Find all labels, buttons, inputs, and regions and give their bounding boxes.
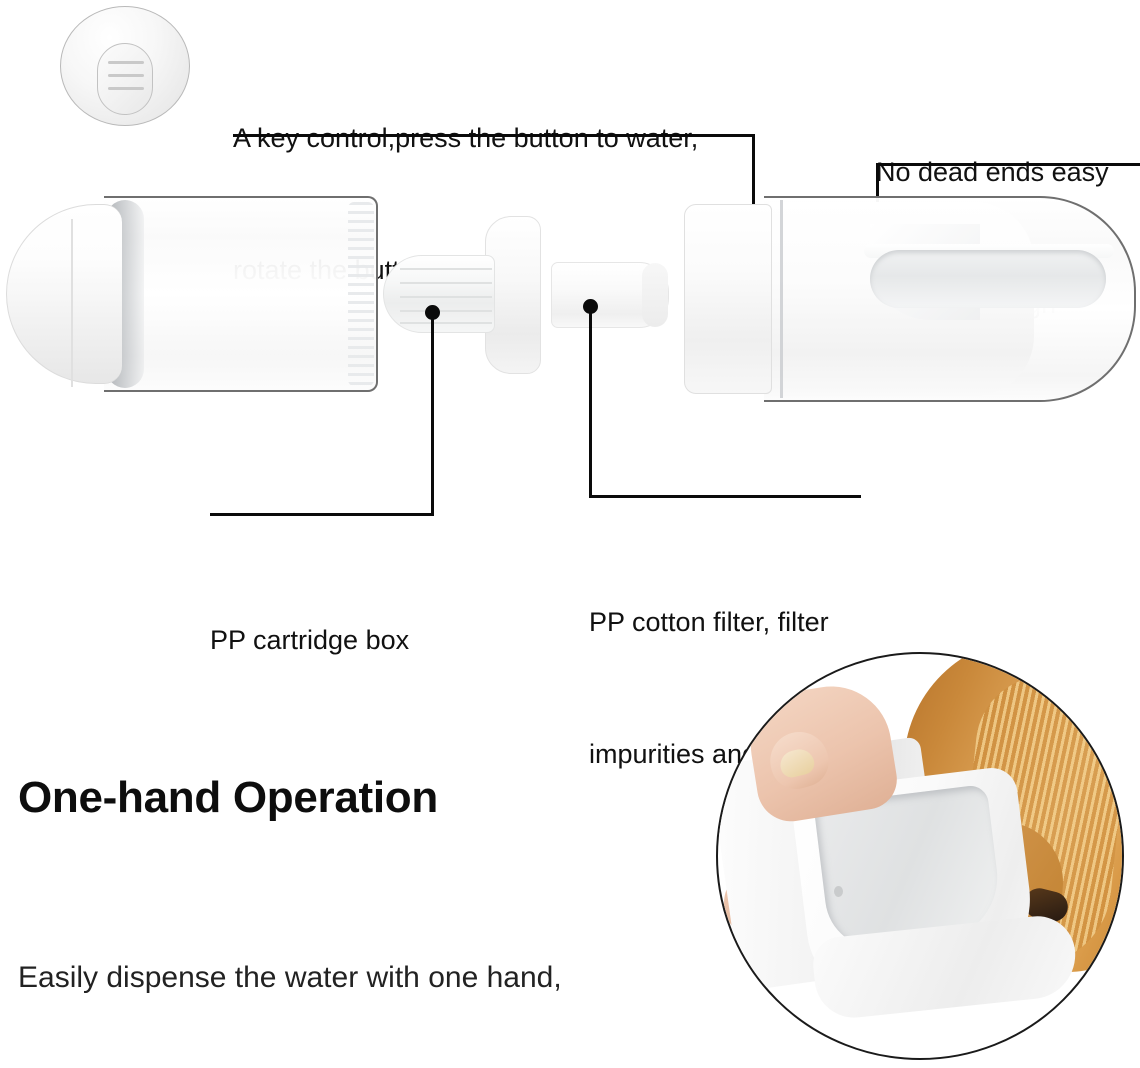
section-body: Easily dispense the water with one hand,…: [18, 848, 562, 1068]
leader-line-key-control-horizontal: [233, 134, 755, 137]
button-pad-icon: [97, 43, 153, 115]
product-infographic: A key control,press the button to water,…: [0, 0, 1140, 1068]
pp-cotton-filter-icon: [551, 262, 669, 328]
callout-pp-cotton-filter-line1: PP cotton filter, filter: [589, 600, 832, 644]
leader-line-no-dead-ends-horizontal: [876, 163, 1140, 166]
callout-no-dead-ends-line1: No dead ends easy: [876, 150, 1109, 194]
drinking-bowl-icon: [684, 196, 1136, 402]
cartridge-ridge: [400, 296, 492, 298]
section-body-line1: Easily dispense the water with one hand,: [18, 952, 562, 1004]
bottle-tube: [104, 196, 378, 392]
cartridge-ridge: [400, 322, 492, 324]
dog-drinking-photo: [716, 652, 1124, 1060]
bowl-water-hole: [834, 886, 843, 897]
bowl-collar: [684, 204, 772, 394]
cartridge-body: [383, 255, 495, 333]
cartridge-ridge: [400, 268, 492, 270]
bottle-thread: [348, 202, 374, 386]
button-ridge-icon: [108, 61, 144, 64]
transparent-bottle-icon: [6, 196, 378, 392]
pp-cartridge-icon: [383, 255, 495, 333]
leader-line-pp-cartridge-box-horizontal: [210, 513, 434, 516]
callout-pp-cartridge-box: PP cartridge box: [210, 530, 409, 750]
bottle-end-cap: [6, 204, 122, 384]
leader-line-pp-cotton-filter-horizontal: [589, 495, 861, 498]
leader-line-pp-cartridge-box-vertical: [431, 312, 434, 515]
cartridge-ridge: [400, 282, 492, 284]
callout-pp-cartridge-box-line1: PP cartridge box: [210, 618, 409, 662]
button-ridge-icon: [108, 87, 144, 90]
button-ridge-icon: [108, 74, 144, 77]
bottle-cap-seam: [71, 219, 73, 387]
cartridge-ridge: [400, 310, 492, 312]
press-button-icon: [60, 6, 190, 126]
leader-line-pp-cotton-filter-vertical: [589, 306, 592, 497]
callout-key-control-line1: A key control,press the button to water,: [233, 116, 698, 160]
filter-end-cap: [642, 263, 668, 327]
page-title: One-hand Operation: [18, 773, 438, 823]
bowl-trough: [870, 250, 1106, 308]
bowl-seam: [780, 200, 783, 398]
